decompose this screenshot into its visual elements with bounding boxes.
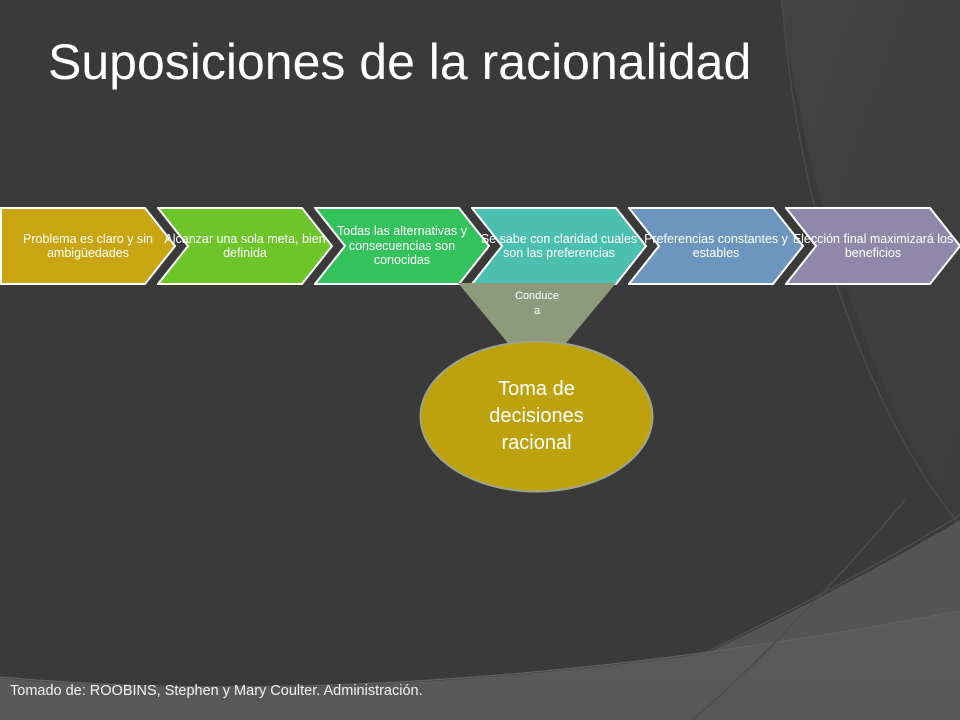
process-step-label: Problema es claro y sin ambigüedades (0, 232, 176, 261)
source-credit: Tomado de: ROOBINS, Stephen y Mary Coult… (10, 682, 423, 700)
connector-label-line2: a (458, 304, 616, 319)
bg-footer-edge (0, 611, 960, 687)
outcome-line-2: decisiones (489, 403, 584, 430)
process-chevron-band: Problema es claro y sin ambigüedades Alc… (0, 207, 960, 285)
slide-canvas: Suposiciones de la racionalidad Problema… (0, 0, 960, 720)
connector-label-line1: Conduce (458, 289, 616, 304)
process-step-label: Alcanzar una sola meta, bien definida (157, 232, 333, 261)
process-step-label: Elección final maximizará los beneficios (785, 232, 960, 261)
outcome-label: Toma de decisiones racional (419, 340, 654, 493)
process-step-1[interactable]: Problema es claro y sin ambigüedades (0, 207, 176, 285)
outcome-line-1: Toma de (498, 376, 575, 403)
process-step-label: Todas las alternativas y consecuencias s… (314, 224, 490, 268)
outcome-line-3: racional (501, 430, 571, 457)
connector-label: Conduce a (458, 289, 616, 319)
bg-arc-lower-right (556, 515, 960, 720)
process-step-2[interactable]: Alcanzar una sola meta, bien definida (157, 207, 333, 285)
slide-title: Suposiciones de la racionalidad (48, 34, 878, 90)
process-step-label: Se sabe con claridad cuales son las pref… (471, 232, 647, 261)
process-step-4[interactable]: Se sabe con claridad cuales son las pref… (471, 207, 647, 285)
process-step-6[interactable]: Elección final maximizará los beneficios (785, 207, 960, 285)
outcome-ellipse[interactable]: Toma de decisiones racional (419, 340, 654, 493)
process-step-label: Preferencias constantes y estables (628, 232, 804, 261)
bg-wedge-lower-right (560, 520, 960, 720)
process-step-5[interactable]: Preferencias constantes y estables (628, 207, 804, 285)
process-step-3[interactable]: Todas las alternativas y consecuencias s… (314, 207, 490, 285)
bg-footer-band (0, 612, 960, 720)
bg-arc-sweep (690, 500, 905, 720)
